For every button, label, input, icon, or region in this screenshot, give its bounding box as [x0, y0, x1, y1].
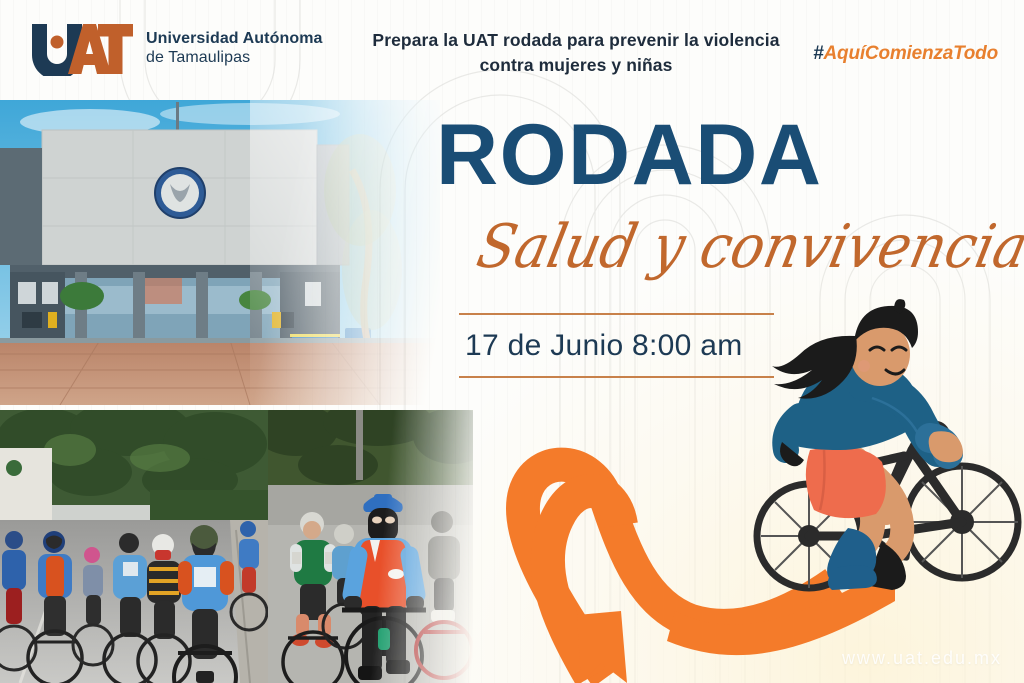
uat-logo-wordmark: Universidad Autónoma de Tamaulipas — [146, 30, 323, 68]
subtitle-script-art: Salud y convivencia — [470, 203, 1024, 293]
org-name-line2: de Tamaulipas — [146, 49, 323, 68]
hashtag-label: AquíComienzaTodo — [824, 43, 998, 64]
cyclist-art — [752, 300, 1024, 610]
uat-logo: Universidad Autónoma de Tamaulipas — [30, 22, 323, 76]
event-date-text: 17 de Junio 8:00 am — [459, 315, 774, 376]
org-name-line1: Universidad Autónoma — [146, 30, 323, 49]
date-rule-bottom — [459, 376, 774, 378]
subtitle-script-text: Salud y convivencia — [471, 213, 1024, 282]
uat-campus-building-photo — [0, 100, 440, 405]
cyclists-closeup-photo — [268, 410, 473, 683]
poster-header: Universidad Autónoma de Tamaulipas Prepa… — [0, 0, 1024, 100]
event-date-block: 17 de Junio 8:00 am — [459, 313, 774, 378]
page-title: RODADA — [436, 112, 822, 198]
hash-symbol-icon: # — [813, 43, 823, 64]
woman-cyclist-illustration — [752, 300, 1024, 610]
poster-root: Universidad Autónoma de Tamaulipas Prepa… — [0, 0, 1024, 683]
campaign-hashtag: #AquíComienzaTodo — [813, 43, 998, 65]
campaign-headline: Prepara la UAT rodada para prevenir la v… — [356, 28, 796, 79]
website-watermark: www.uat.edu.mx — [842, 648, 1002, 669]
photo-collage — [0, 100, 470, 683]
uat-logo-mark-icon — [30, 22, 134, 76]
cyclists-group-photo — [0, 410, 268, 683]
subtitle-script: Salud y convivencia — [470, 203, 1024, 293]
